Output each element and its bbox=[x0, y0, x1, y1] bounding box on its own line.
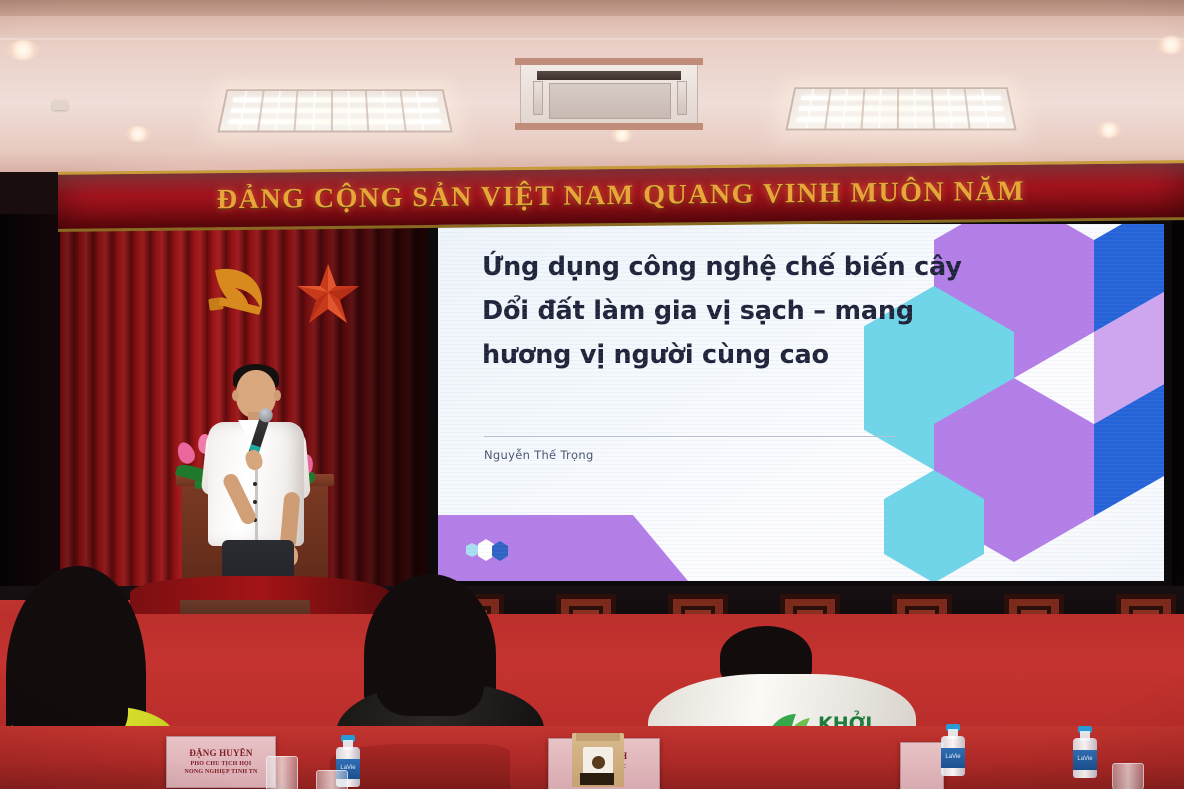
slide-title: Ứng dụng công nghệ chế biến cây Dổi đất … bbox=[482, 246, 1042, 378]
ceiling bbox=[0, 0, 1184, 172]
placard-org: NÔNG NGHIỆP TỈNH TN bbox=[167, 769, 275, 775]
water-bottle: LaVie bbox=[1073, 726, 1097, 778]
shirt-button bbox=[253, 500, 257, 504]
projection-screen: Ứng dụng công nghệ chế biến cây Dổi đất … bbox=[428, 218, 1172, 586]
placard-role: PHÓ CHỦ TỊCH HỘI bbox=[167, 761, 275, 767]
slide-author: Nguyễn Thế Trọng bbox=[484, 448, 594, 462]
slide-title-line-3: hương vị người cùng cao bbox=[482, 334, 1042, 378]
slide-divider bbox=[484, 436, 896, 437]
presenter-ear bbox=[274, 390, 281, 401]
audience-hair-front bbox=[376, 620, 484, 716]
conference-hall-photo: Ứng dụng công nghệ chế biến cây Dổi đất … bbox=[0, 0, 1184, 789]
smoke-detector-icon bbox=[52, 100, 68, 110]
placard-name: ĐẶNG HUYỀN bbox=[167, 748, 275, 758]
presenter-ear bbox=[232, 390, 239, 401]
red-star-emblem-icon bbox=[295, 262, 361, 326]
ceiling-seam bbox=[0, 38, 1184, 40]
slide-title-line-2: Dổi đất làm gia vị sạch – mang bbox=[482, 290, 1042, 334]
downlight bbox=[610, 128, 634, 142]
drinking-glass bbox=[266, 756, 298, 789]
water-bottle: LaVie bbox=[941, 724, 965, 776]
air-conditioner-cassette-icon bbox=[520, 62, 698, 126]
fluorescent-panel-light bbox=[217, 89, 453, 132]
hall-banner: ĐẢNG CỘNG SẢN VIỆT NAM QUANG VINH MUÔN N… bbox=[58, 160, 1184, 232]
downlight bbox=[1096, 122, 1122, 138]
downlight bbox=[1156, 36, 1184, 54]
slide-logo-icon bbox=[464, 537, 510, 563]
fluorescent-panel-light bbox=[785, 87, 1016, 130]
hammer-and-sickle-emblem-icon bbox=[205, 258, 271, 326]
product-pouch bbox=[572, 733, 624, 787]
lotus-petal bbox=[174, 440, 197, 466]
ceiling-edge-trim bbox=[0, 0, 1184, 16]
slide-title-line-1: Ứng dụng công nghệ chế biến cây bbox=[482, 246, 1042, 290]
name-placard-far-right bbox=[900, 742, 944, 789]
bottle-brand-label: LaVie bbox=[1073, 756, 1097, 762]
name-placard-left: ĐẶNG HUYỀN PHÓ CHỦ TỊCH HỘI NÔNG NGHIỆP … bbox=[166, 736, 276, 788]
drinking-glass bbox=[1112, 763, 1144, 789]
bottle-brand-label: LaVie bbox=[941, 754, 965, 760]
shirt-button bbox=[253, 482, 257, 486]
downlight bbox=[125, 126, 151, 142]
drinking-glass bbox=[316, 770, 348, 789]
downlight bbox=[6, 40, 40, 60]
presentation-slide: Ứng dụng công nghệ chế biến cây Dổi đất … bbox=[438, 224, 1164, 581]
